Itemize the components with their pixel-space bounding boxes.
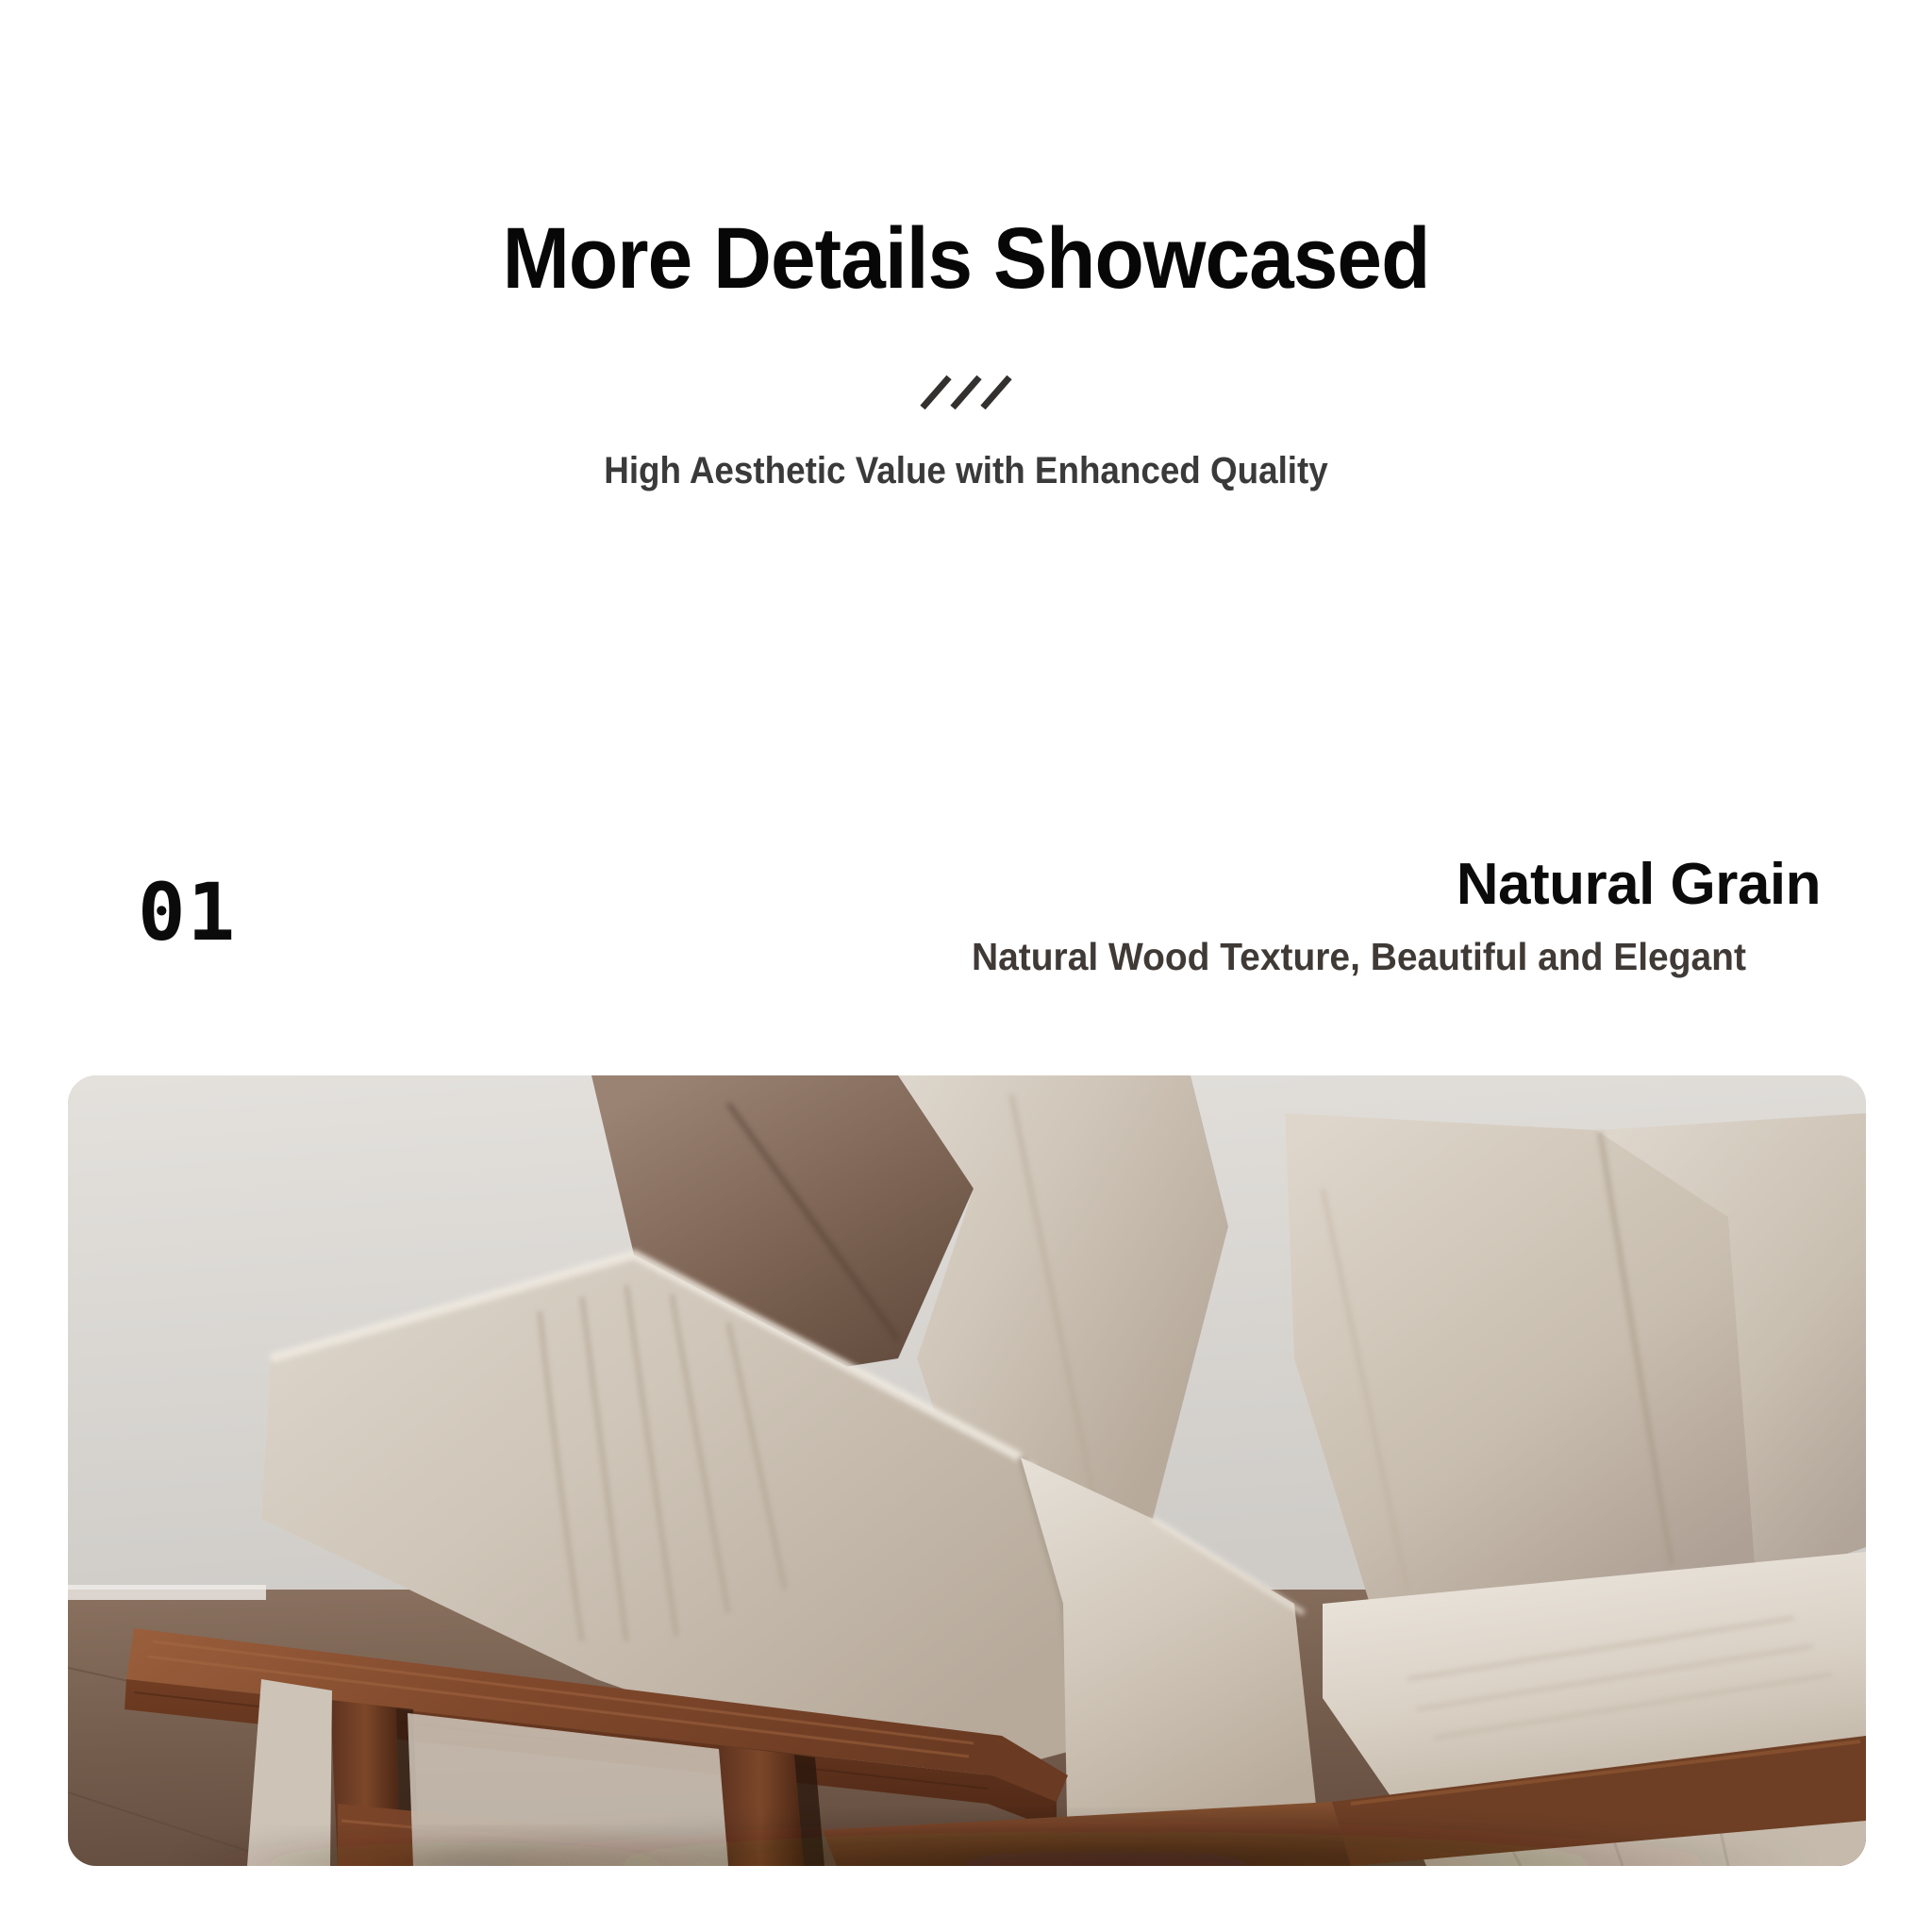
page-header: More Details Showcased High Aesthetic Va…	[0, 0, 1932, 492]
feature-row: 01 Natural Grain Natural Wood Texture, B…	[0, 854, 1932, 1061]
page-subtitle: High Aesthetic Value with Enhanced Quali…	[77, 415, 1855, 492]
feature-description: Natural Wood Texture, Beautiful and Eleg…	[972, 915, 1778, 979]
feature-heading: Natural Grain	[972, 854, 1821, 915]
triple-slash-divider-icon	[909, 302, 1023, 415]
feature-index-number: 01	[138, 873, 237, 952]
product-photo	[68, 1075, 1866, 1866]
product-detail-page: More Details Showcased High Aesthetic Va…	[0, 0, 1932, 1932]
page-title: More Details Showcased	[68, 0, 1865, 302]
feature-text-block: Natural Grain Natural Wood Texture, Beau…	[972, 854, 1821, 979]
